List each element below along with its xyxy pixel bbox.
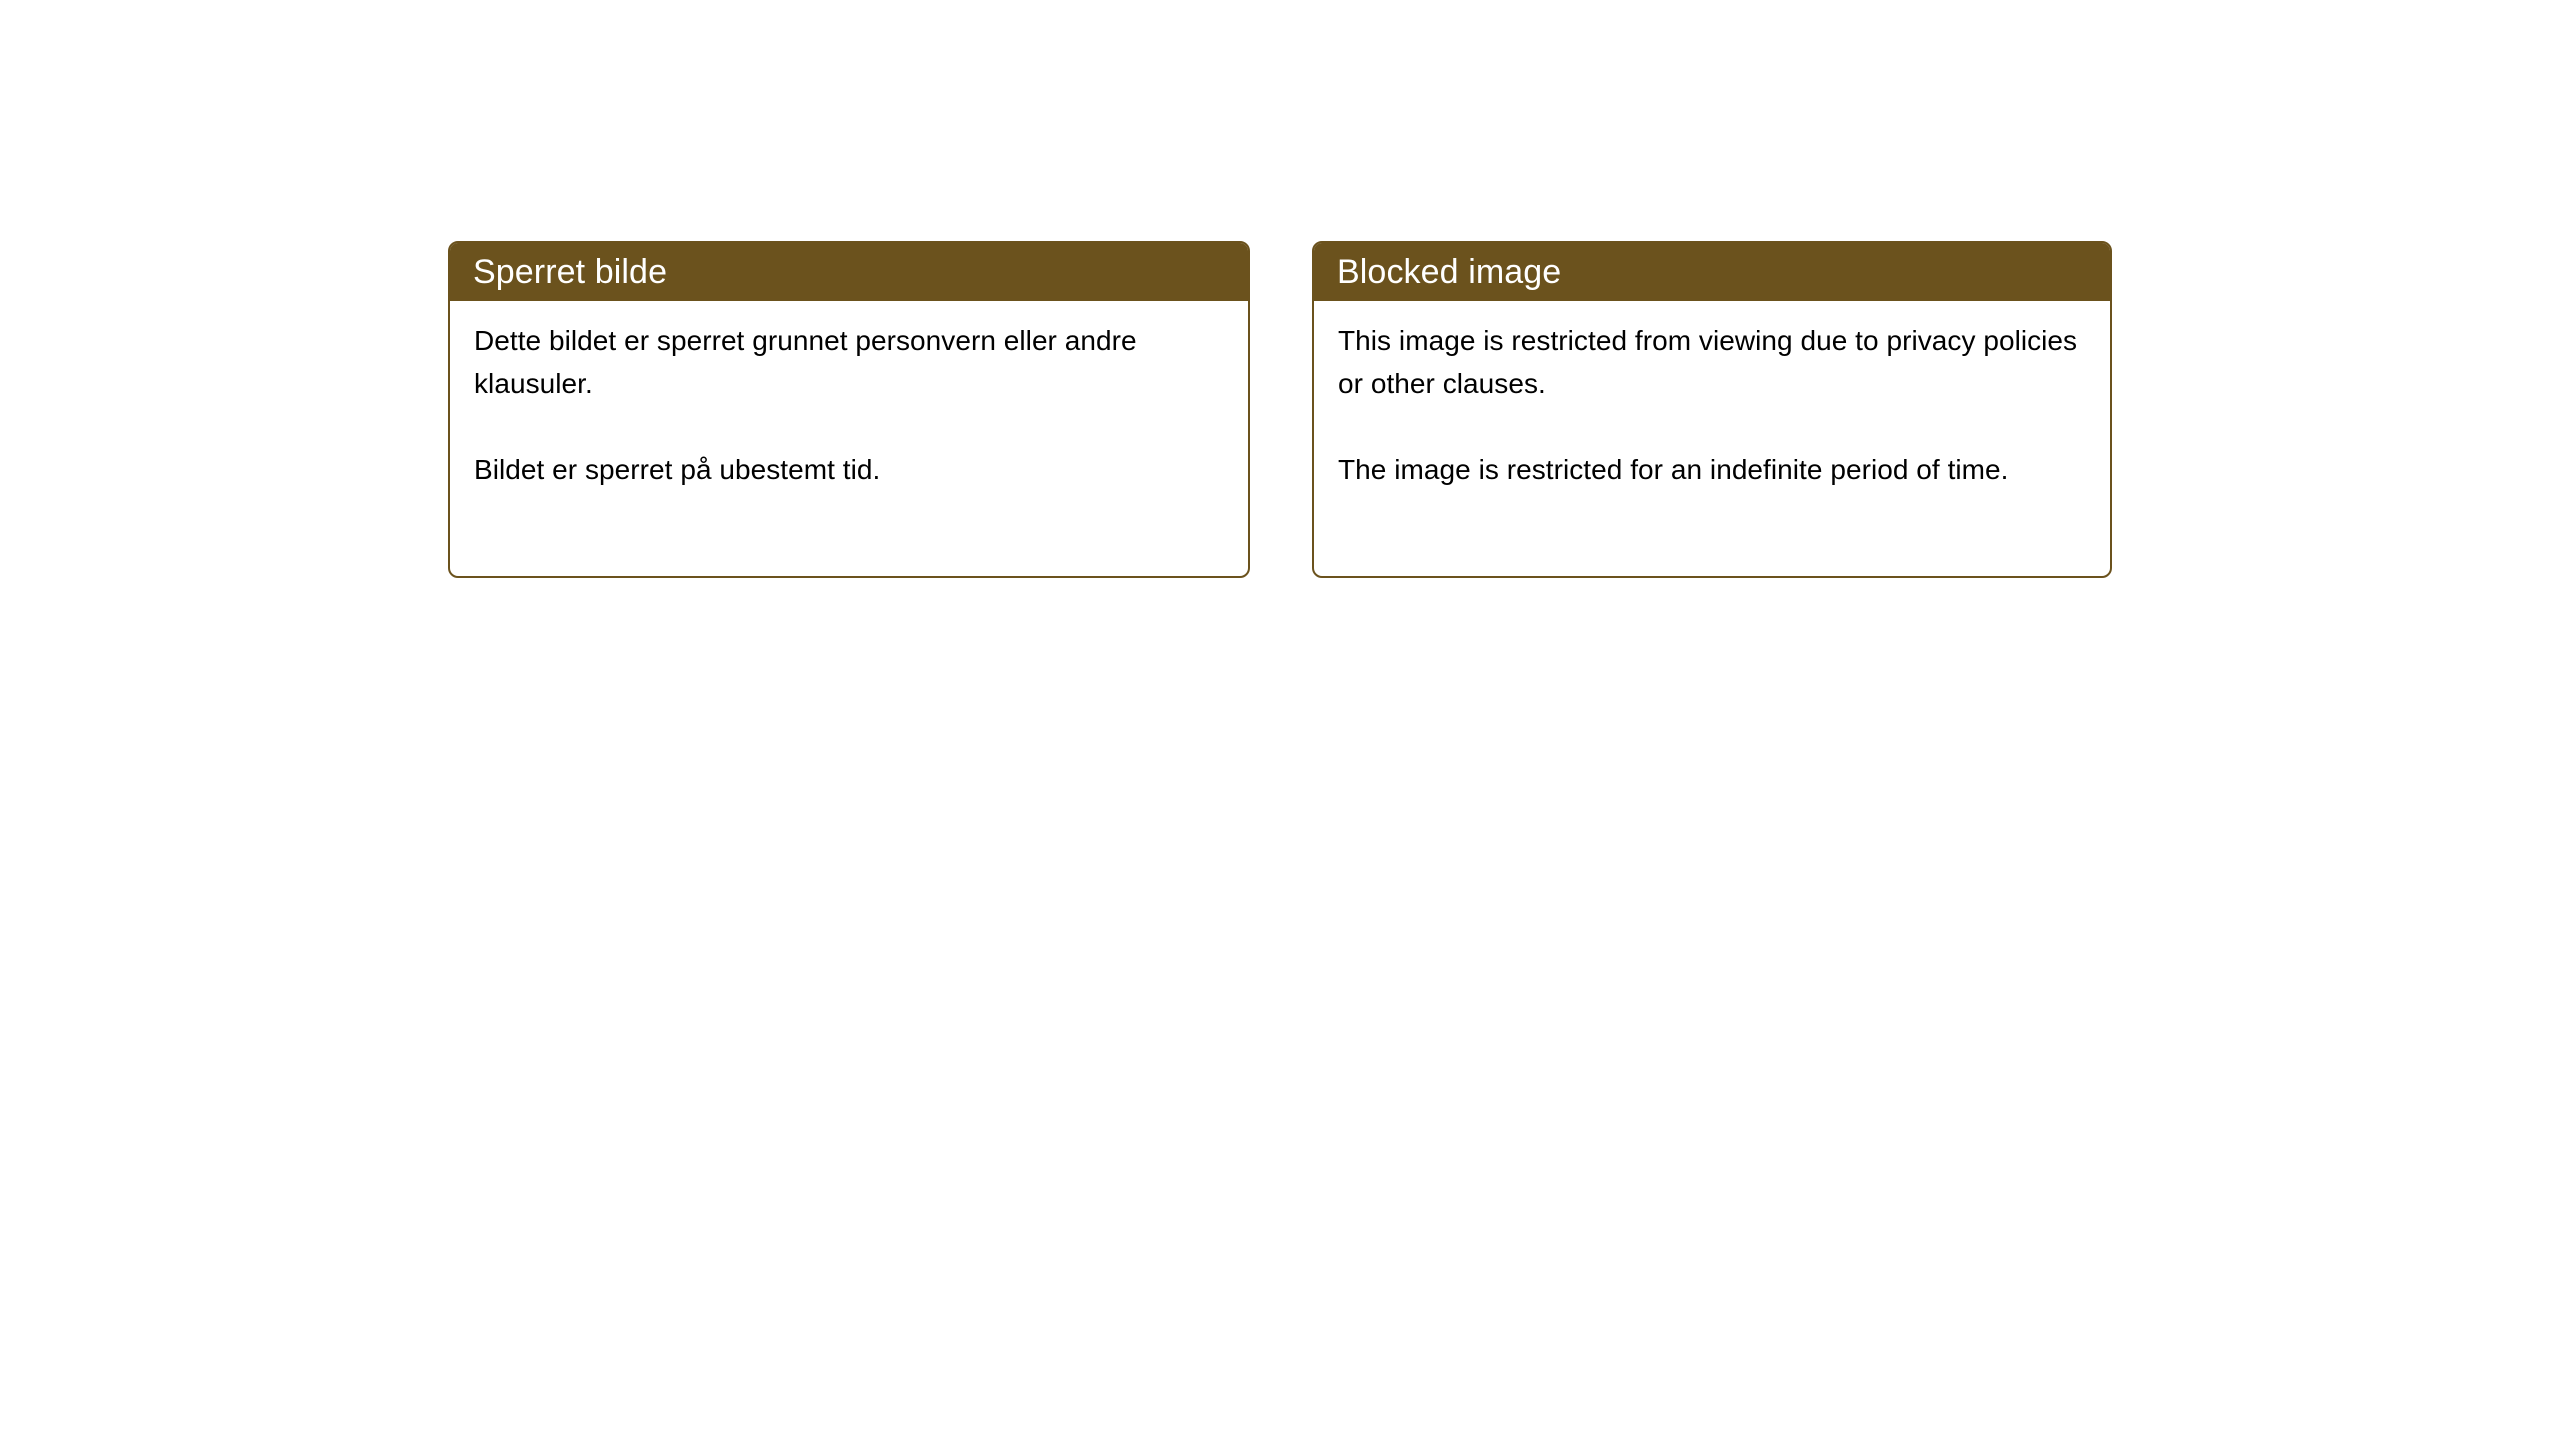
card-title-norwegian: Sperret bilde [473,255,667,289]
card-body-english: This image is restricted from viewing du… [1314,301,2110,491]
card-paragraph-primary-norwegian: Dette bildet er sperret grunnet personve… [474,319,1224,405]
card-paragraph-secondary-english: The image is restricted for an indefinit… [1338,448,2086,491]
blocked-image-card-norwegian: Sperret bilde Dette bildet er sperret gr… [448,241,1250,578]
card-header-norwegian: Sperret bilde [449,242,1249,301]
blocked-image-card-english: Blocked image This image is restricted f… [1312,241,2112,578]
card-body-norwegian: Dette bildet er sperret grunnet personve… [450,301,1248,491]
page-canvas: Sperret bilde Dette bildet er sperret gr… [0,0,2560,1440]
card-title-english: Blocked image [1337,255,1561,289]
card-paragraph-primary-english: This image is restricted from viewing du… [1338,319,2086,405]
card-header-english: Blocked image [1313,242,2111,301]
card-paragraph-secondary-norwegian: Bildet er sperret på ubestemt tid. [474,448,1224,491]
